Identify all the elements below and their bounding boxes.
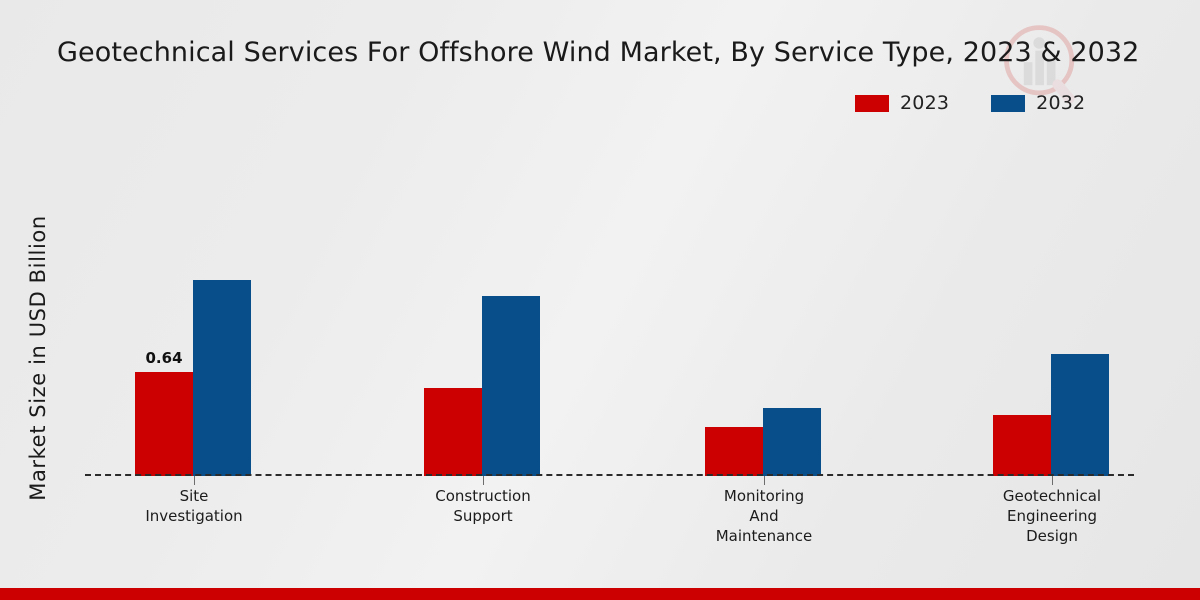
x-axis-label-line: Design (937, 526, 1167, 546)
plot-area: 0.64 (85, 140, 1135, 476)
x-axis-label-geotechnical-engineering-design: Geotechnical Engineering Design (937, 486, 1167, 546)
x-axis-label-construction-support: Construction Support (368, 486, 598, 526)
bar-2023-monitoring-and-maintenance[interactable] (705, 427, 763, 476)
bar-group-monitoring-and-maintenance (705, 140, 821, 476)
bar-2032-site-investigation[interactable] (193, 280, 251, 476)
bar-value-label-2023-site-investigation: 0.64 (145, 349, 182, 367)
bar-group-geotechnical-engineering-design (993, 140, 1109, 476)
chart-title: Geotechnical Services For Offshore Wind … (57, 34, 1147, 72)
bar-2032-construction-support[interactable] (482, 296, 540, 476)
bar-group-site-investigation: 0.64 (135, 140, 251, 476)
legend-swatch-icon-2023 (855, 95, 889, 112)
x-axis-tick-4 (1052, 476, 1053, 485)
bar-group-construction-support (424, 140, 540, 476)
x-axis-tick-1 (194, 476, 195, 485)
x-axis-label-line: Geotechnical (937, 486, 1167, 506)
x-axis-label-line: Support (368, 506, 598, 526)
x-axis-label-line: And (649, 506, 879, 526)
bar-2032-monitoring-and-maintenance[interactable] (763, 408, 821, 476)
legend-item-2032[interactable]: 2032 (991, 92, 1085, 114)
bar-2023-construction-support[interactable] (424, 388, 482, 476)
x-axis-tick-2 (483, 476, 484, 485)
legend-label-2023: 2023 (900, 92, 949, 114)
x-axis-label-monitoring-and-maintenance: Monitoring And Maintenance (649, 486, 879, 546)
legend-label-2032: 2032 (1036, 92, 1085, 114)
legend-item-2023[interactable]: 2023 (855, 92, 949, 114)
x-axis-label-line: Investigation (79, 506, 309, 526)
bar-2032-geotechnical-engineering-design[interactable] (1051, 354, 1109, 476)
chart-legend: 2023 2032 (855, 92, 1085, 114)
x-axis-label-site-investigation: Site Investigation (79, 486, 309, 526)
x-axis-label-line: Engineering (937, 506, 1167, 526)
x-axis-label-line: Construction (368, 486, 598, 506)
bar-2023-geotechnical-engineering-design[interactable] (993, 415, 1051, 476)
x-axis-label-line: Site (79, 486, 309, 506)
x-axis-tick-3 (764, 476, 765, 485)
x-axis-label-line: Maintenance (649, 526, 879, 546)
chart-canvas: Geotechnical Services For Offshore Wind … (0, 0, 1200, 600)
x-axis-baseline (85, 474, 1134, 476)
x-axis-label-line: Monitoring (649, 486, 879, 506)
footer-accent-bar (0, 588, 1200, 600)
bar-2023-site-investigation[interactable]: 0.64 (135, 372, 193, 476)
y-axis-title: Market Size in USD Billion (26, 168, 50, 548)
legend-swatch-icon-2032 (991, 95, 1025, 112)
